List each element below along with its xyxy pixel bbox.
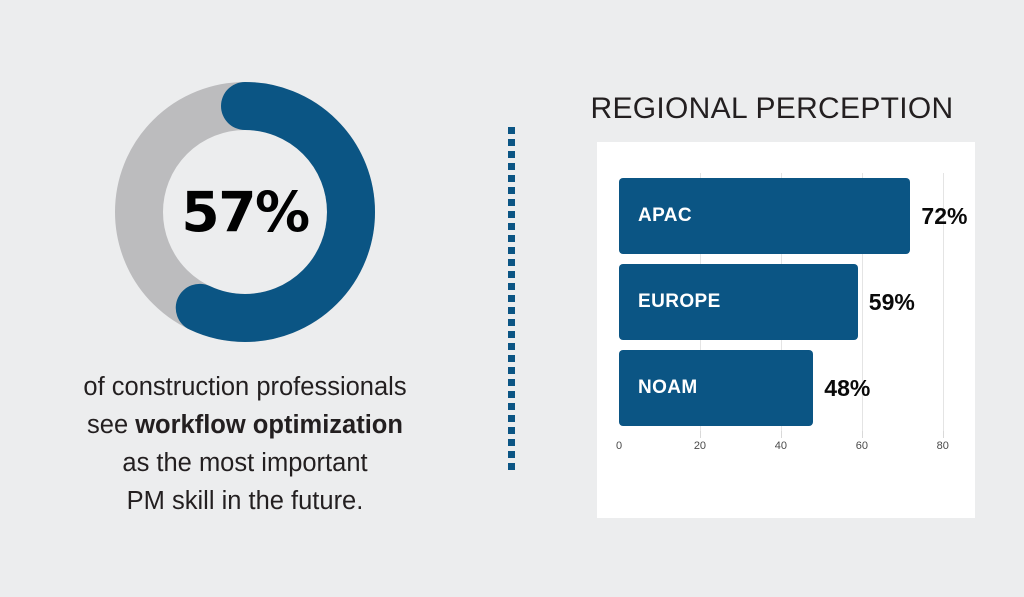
x-axis-tick-label: 60 [856, 440, 868, 452]
dotted-divider [508, 127, 515, 474]
divider-dot [508, 283, 515, 290]
chart-title: REGIONAL PERCEPTION [520, 92, 1024, 126]
divider-dot [508, 427, 515, 434]
bar-value-label: 48% [824, 375, 870, 402]
x-axis-tick-label: 80 [937, 440, 949, 452]
x-axis-tick [700, 431, 701, 438]
bar-category-label: NOAM [638, 377, 698, 399]
infographic-root: 57% of construction professionals see wo… [0, 0, 1024, 597]
bar-category-label: EUROPE [638, 291, 721, 313]
caption-line-2-prefix: see [87, 411, 135, 439]
divider-dot [508, 295, 515, 302]
bar-apac[interactable]: APAC [619, 178, 910, 254]
divider-dot [508, 271, 515, 278]
divider-dot [508, 367, 515, 374]
bar-category-label: APAC [638, 205, 692, 227]
divider-dot [508, 187, 515, 194]
bar-value-label: 72% [921, 203, 967, 230]
donut-chart: 57% [115, 82, 375, 342]
divider-dot [508, 259, 515, 266]
divider-dot [508, 415, 515, 422]
divider-dot [508, 139, 515, 146]
divider-dot [508, 403, 515, 410]
bar-rows: APAC72%EUROPE59%NOAM48% [619, 173, 959, 431]
bar-value-label: 59% [869, 289, 915, 316]
x-axis-tick-label: 40 [775, 440, 787, 452]
divider-dot [508, 199, 515, 206]
divider-dot [508, 379, 515, 386]
x-axis-tick-label: 20 [694, 440, 706, 452]
divider-dot [508, 127, 515, 134]
bar-row[interactable]: NOAM48% [619, 345, 959, 431]
divider-dot [508, 163, 515, 170]
caption-line-4: PM skill in the future. [0, 482, 490, 520]
divider-dot [508, 319, 515, 326]
divider-dot [508, 211, 515, 218]
divider-dot [508, 235, 515, 242]
donut-caption: of construction professionals see workfl… [0, 368, 490, 520]
x-axis-tick [781, 431, 782, 438]
x-axis-tick [943, 431, 944, 438]
x-axis-tick-label: 0 [616, 440, 622, 452]
divider-dot [508, 247, 515, 254]
divider-dot [508, 451, 515, 458]
donut-center-value: 57% [115, 82, 375, 342]
divider-dot [508, 223, 515, 230]
divider-dot [508, 391, 515, 398]
divider-dot [508, 175, 515, 182]
caption-line-1: of construction professionals [0, 368, 490, 406]
divider-dot [508, 439, 515, 446]
bar-row[interactable]: EUROPE59% [619, 259, 959, 345]
divider-dot [508, 343, 515, 350]
divider-dot [508, 463, 515, 470]
bar-chart-plot-area: APAC72%EUROPE59%NOAM48% 020406080 [619, 173, 959, 470]
donut-statistic-panel: 57% of construction professionals see wo… [0, 0, 500, 597]
caption-line-3: as the most important [0, 444, 490, 482]
caption-line-2: see workflow optimization [0, 406, 490, 444]
regional-perception-panel: REGIONAL PERCEPTION APAC72%EUROPE59%NOAM… [520, 0, 1024, 597]
bar-europe[interactable]: EUROPE [619, 264, 858, 340]
divider-dot [508, 307, 515, 314]
caption-emphasis: workflow optimization [135, 411, 403, 439]
divider-dot [508, 331, 515, 338]
divider-dot [508, 151, 515, 158]
divider-dot [508, 355, 515, 362]
bar-noam[interactable]: NOAM [619, 350, 813, 426]
bar-chart-card: APAC72%EUROPE59%NOAM48% 020406080 [597, 142, 975, 518]
x-axis-tick [862, 431, 863, 438]
bar-row[interactable]: APAC72% [619, 173, 959, 259]
x-axis: 020406080 [619, 431, 959, 467]
